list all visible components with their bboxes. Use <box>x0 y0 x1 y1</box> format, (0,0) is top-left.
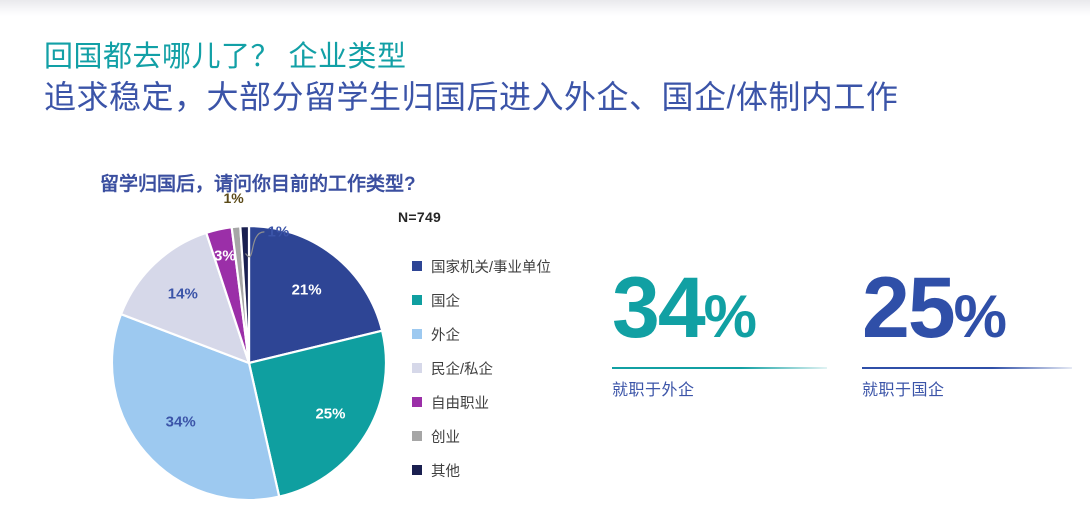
legend-item-label: 自由职业 <box>431 392 489 413</box>
stat-caption: 就职于外企 <box>612 376 827 400</box>
legend-swatch-icon <box>412 397 422 407</box>
slide: 回国都去哪儿了？ 企业类型 追求稳定，大部分留学生归国后进入外企、国企/体制内工… <box>0 0 1090 527</box>
legend-item[interactable]: 自由职业 <box>412 385 582 419</box>
legend-item[interactable]: 外企 <box>412 317 582 351</box>
legend-item[interactable]: 民企/私企 <box>412 351 582 385</box>
legend-item[interactable]: 国家机关/事业单位 <box>412 249 582 283</box>
top-gradient-band <box>0 0 1090 16</box>
stat-caption: 就职于国企 <box>862 376 1072 400</box>
legend-item-label: 其他 <box>431 460 460 481</box>
legend-swatch-icon <box>412 431 422 441</box>
legend-swatch-icon <box>412 295 422 305</box>
legend-item-label: 外企 <box>431 324 460 345</box>
legend-swatch-icon <box>412 329 422 339</box>
legend-item-label: 国企 <box>431 290 460 311</box>
legend-item-label: 国家机关/事业单位 <box>431 256 551 277</box>
pie-chart: 21%25%34%14%3%1%1% <box>108 222 394 508</box>
stat-number: 34% <box>612 262 827 363</box>
headline-block: 回国都去哪儿了？ 企业类型 追求稳定，大部分留学生归国后进入外企、国企/体制内工… <box>44 38 1074 118</box>
stat-percent-sign: % <box>954 283 1006 350</box>
chart-legend: 国家机关/事业单位 国企 外企 民企/私企 自由职业 创业 其他 <box>412 249 582 487</box>
legend-item[interactable]: 国企 <box>412 283 582 317</box>
legend-swatch-icon <box>412 261 422 271</box>
legend-swatch-icon <box>412 465 422 475</box>
headline-eyebrow: 回国都去哪儿了？ 企业类型 <box>44 38 1074 76</box>
sample-size-label: N=749 <box>398 209 441 225</box>
stat-percent-sign: % <box>704 283 756 350</box>
stat-divider <box>612 367 827 369</box>
stat-state-owned-enterprises: 25% 就职于国企 <box>862 262 1072 400</box>
stat-value: 25 <box>862 260 954 356</box>
pie-chart-svg <box>108 222 394 508</box>
legend-item-label: 民企/私企 <box>431 358 493 379</box>
legend-swatch-icon <box>412 363 422 373</box>
stat-value: 34 <box>612 260 704 356</box>
stat-number: 25% <box>862 262 1072 363</box>
legend-item-label: 创业 <box>431 426 460 447</box>
stat-foreign-enterprises: 34% 就职于外企 <box>612 262 827 400</box>
chart-title: 留学归国后，请问你目前的工作类型? <box>100 169 416 196</box>
headline-main: 追求稳定，大部分留学生归国后进入外企、国企/体制内工作 <box>44 76 1074 118</box>
stat-divider <box>862 367 1072 369</box>
legend-item[interactable]: 创业 <box>412 419 582 453</box>
legend-item[interactable]: 其他 <box>412 453 582 487</box>
